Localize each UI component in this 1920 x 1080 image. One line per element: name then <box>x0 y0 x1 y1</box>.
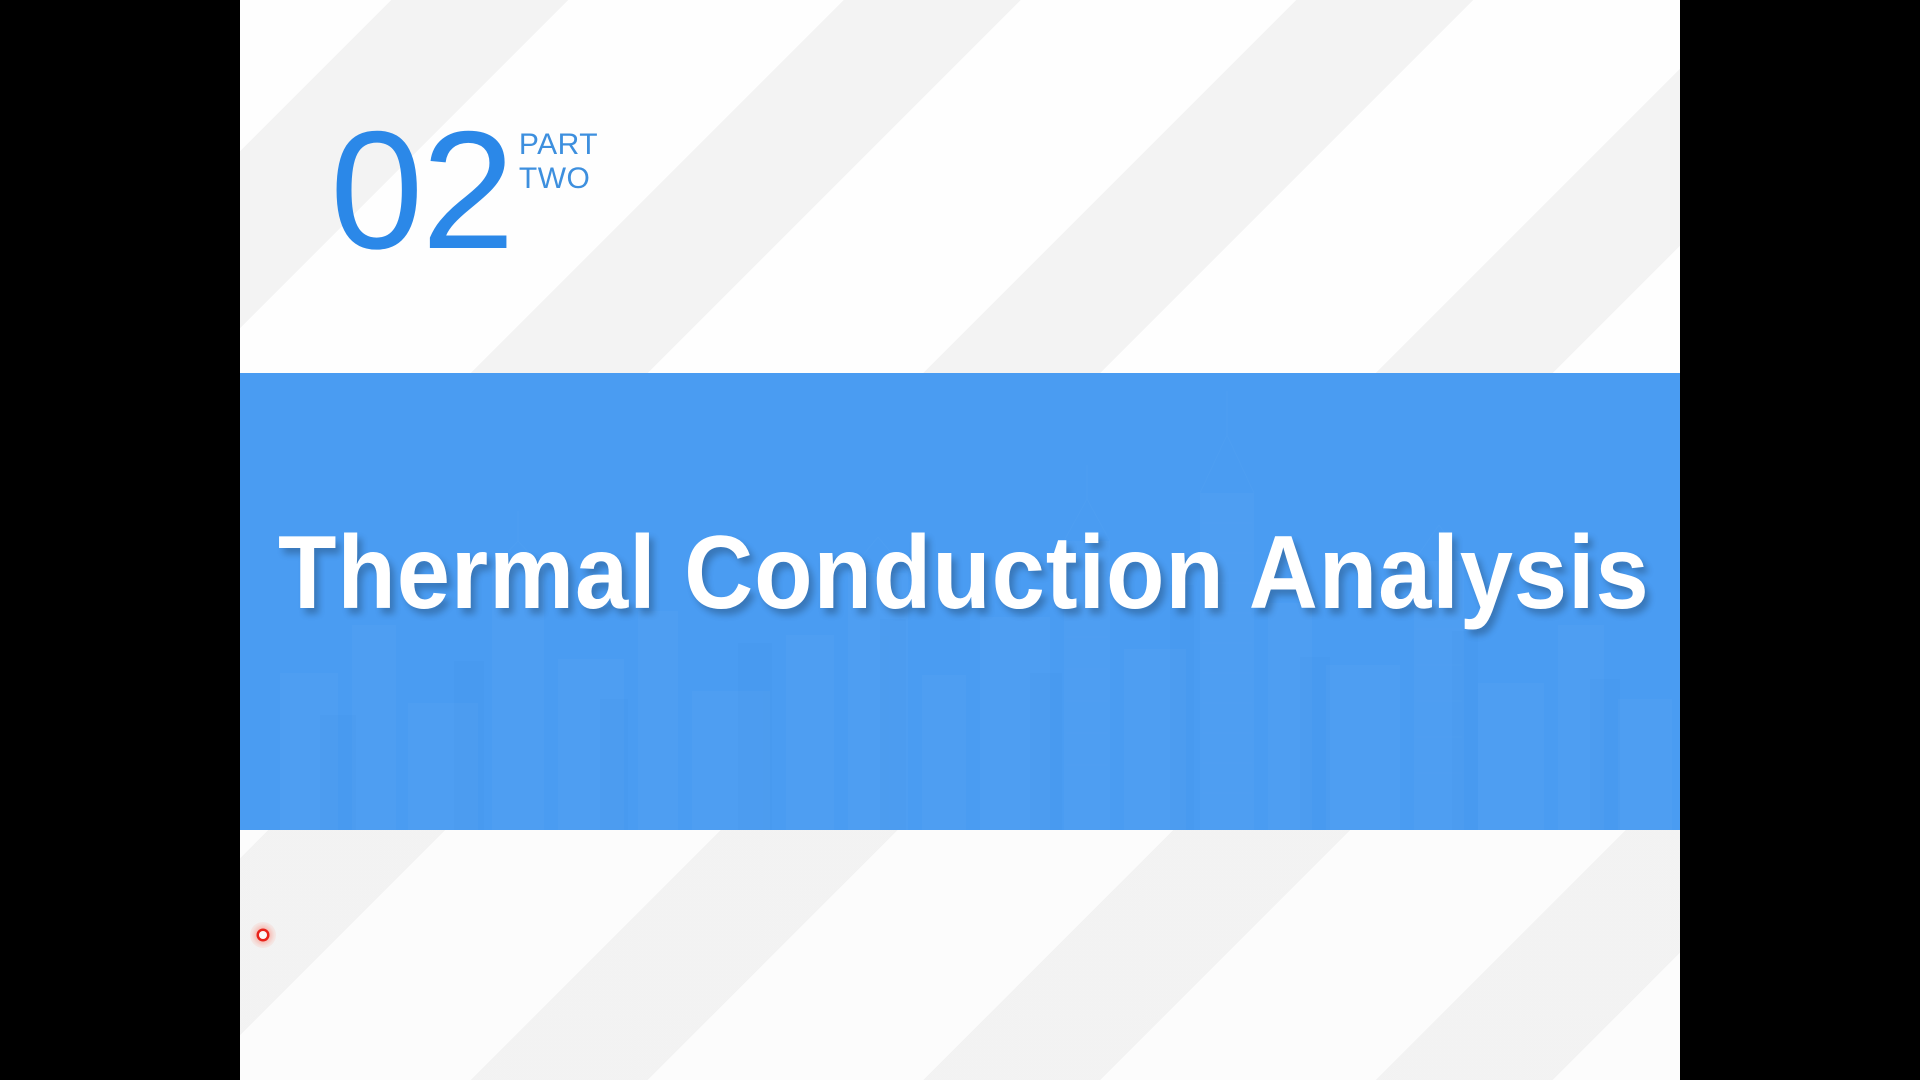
letterbox-bar-right <box>1680 0 1920 1080</box>
slide-canvas: 02 PART TWO <box>240 0 1680 1080</box>
part-number: 02 <box>330 118 513 262</box>
cursor-ring <box>259 931 267 939</box>
slide-top-section: 02 PART TWO <box>240 0 1680 373</box>
diagonal-sheen-pattern-bottom <box>240 830 1680 1080</box>
part-label-line-1: PART <box>519 128 598 162</box>
part-label-line-2: TWO <box>519 162 598 196</box>
page-title: Thermal Conduction Analysis <box>278 521 1548 625</box>
part-label: PART TWO <box>519 128 598 195</box>
letterbox-bar-left <box>0 0 240 1080</box>
presentation-screen: 02 PART TWO <box>0 0 1920 1080</box>
slide-bottom-section <box>240 830 1680 1080</box>
part-indicator: 02 PART TWO <box>330 118 598 262</box>
title-banner: Thermal Conduction Analysis <box>240 373 1680 830</box>
